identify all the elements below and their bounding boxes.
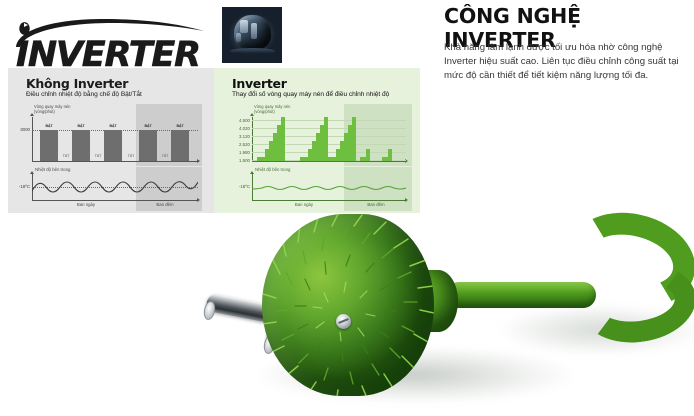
compressor-base <box>230 48 275 54</box>
compressor-highlight <box>240 20 248 33</box>
y-axis-right <box>252 117 253 162</box>
screw-icon <box>336 314 351 329</box>
gridline <box>252 120 406 121</box>
bar-label-off: TẮT <box>122 154 140 158</box>
rpm-tick-right: 1.980 <box>224 150 250 155</box>
bar-on <box>139 130 157 161</box>
rpm-tick-right: 4.500 <box>224 118 250 123</box>
bar-label-on: BẬT <box>38 124 60 128</box>
compressor-photo <box>222 7 282 63</box>
rpm-tick-right: 1.500 <box>224 158 250 163</box>
prong-cap-upper <box>202 300 216 321</box>
rpm-tick-3000: 3000 <box>12 127 30 132</box>
rpm-tick-right: 4.020 <box>224 126 250 131</box>
bar-label-on: BẬT <box>70 124 92 128</box>
temp-plot-left: Nhiệt độ bên trong -18ºC Ban ngày Ban đê… <box>26 167 202 211</box>
temp-axis-caption-left: Nhiệt độ bên trong <box>35 167 115 172</box>
rpm-axis-caption-right: Vòng quay máy nén (vòng/phút) <box>254 104 324 114</box>
chart-panel-inverter: Inverter Thay đổi số vòng quay máy nén đ… <box>214 68 420 213</box>
temp-axis-caption-right: Nhiệt độ bên trong <box>255 167 335 172</box>
rpm-tick-right: 2.520 <box>224 142 250 147</box>
compressor-highlight <box>236 33 241 42</box>
bar-on <box>104 130 122 161</box>
chart-panel-non-inverter: Không Inverter Điều chỉnh nhiệt độ bằng … <box>8 68 214 213</box>
bar-rpm <box>281 117 285 161</box>
temp-x-axis-left <box>32 200 198 201</box>
bar-label-off: TẮT <box>90 154 106 158</box>
temp-y-axis-arrow-left <box>30 171 34 174</box>
grass-plug-head <box>262 214 434 396</box>
y-axis-arrow-right <box>250 113 254 116</box>
bar-label-off: TẮT <box>58 154 74 158</box>
bar-label-off: TẮT <box>157 154 173 158</box>
bar-rpm <box>324 117 328 161</box>
rpm-plot-left: Vòng quay máy nén (vòng/phút) 3000 BẬT B… <box>26 104 202 166</box>
x-axis-right <box>252 161 406 162</box>
temp-y-axis-arrow-right <box>250 171 254 174</box>
temperature-wave-left <box>32 175 198 200</box>
inverter-logo: INVERTER <box>8 16 213 72</box>
gridline <box>252 128 406 129</box>
page-description: Khả năng làm lạnh được tối ưu hóa nhờ cô… <box>444 41 692 83</box>
chart-title-left: Không Inverter <box>26 76 128 91</box>
rpm-tick-right: 3.120 <box>224 134 250 139</box>
comparison-charts: Không Inverter Điều chỉnh nhiệt độ bằng … <box>8 68 420 213</box>
bar-on <box>171 130 189 161</box>
power-cord <box>446 282 596 308</box>
y-axis-arrow-left <box>30 113 34 116</box>
chart-subtitle-right: Thay đổi số vòng quay máy nén để điều ch… <box>232 91 389 98</box>
temperature-wave-right <box>252 181 406 195</box>
x-axis-arrow-left <box>197 159 200 163</box>
chart-title-right: Inverter <box>232 76 287 91</box>
bar-rpm <box>352 117 356 161</box>
compressor-highlight <box>251 23 257 39</box>
rpm-plot-right: Vòng quay máy nén (vòng/phút) 4.500 4.02… <box>246 104 412 166</box>
bar-label-on: BẬT <box>169 124 191 128</box>
x-label-night-left: Ban đêm <box>130 202 200 207</box>
rpm-axis-caption-left: Vòng quay máy nén (vòng/phút) <box>34 104 104 114</box>
bar-rpm-night <box>388 149 392 161</box>
bar-label-on: BẬT <box>102 124 124 128</box>
bar-label-on: BẬT <box>137 124 159 128</box>
inverter-infographic: INVERTER CÔNG NGHỆ INVERTER Khả năng làm… <box>0 0 694 416</box>
grass-plug-image <box>196 196 694 416</box>
bar-rpm-night <box>366 149 370 161</box>
temp-tick-left: -18ºC <box>12 184 30 189</box>
bar-on <box>40 130 58 161</box>
bar-on <box>72 130 90 161</box>
chart-subtitle-left: Điều chỉnh nhiệt độ bằng chế độ Bật/Tắt <box>26 91 142 98</box>
temp-tick-right: -18ºC <box>224 184 250 189</box>
x-axis-left <box>32 161 198 162</box>
y-axis-left <box>32 117 33 162</box>
x-label-day-left: Ban ngày <box>46 202 126 207</box>
